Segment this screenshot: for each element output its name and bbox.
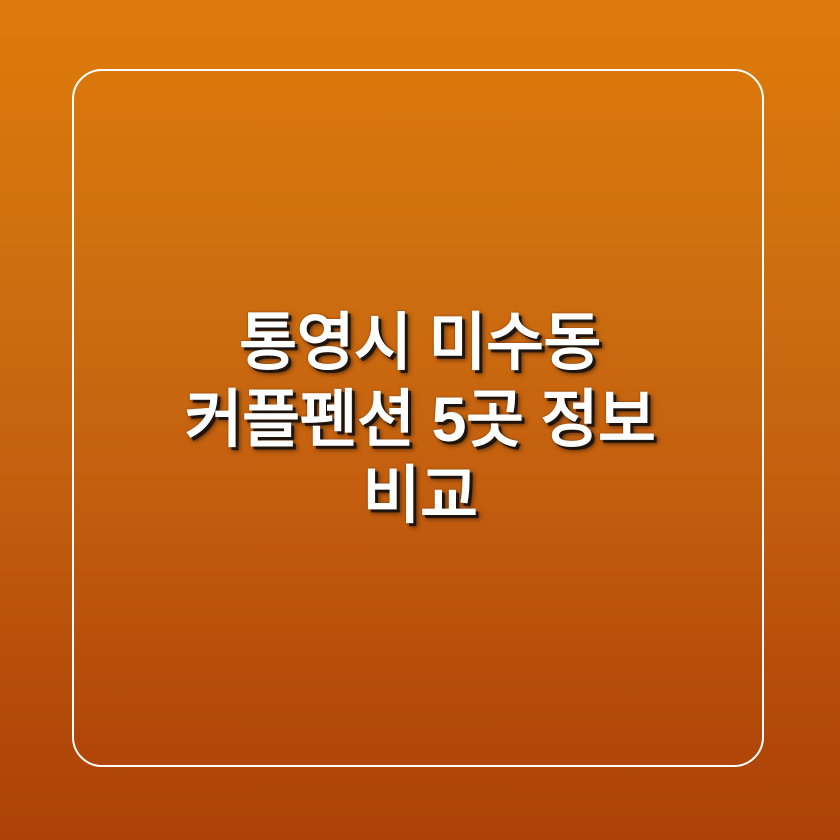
title-line-3: 비교 <box>185 458 656 535</box>
title-line-1: 통영시 미수동 <box>185 305 656 382</box>
page-title: 통영시 미수동 커플펜션 5곳 정보 비교 <box>125 305 716 536</box>
title-block: 통영시 미수동 커플펜션 5곳 정보 비교 <box>0 0 840 840</box>
thumbnail-canvas: 통영시 미수동 커플펜션 5곳 정보 비교 <box>0 0 840 840</box>
title-line-2: 커플펜션 5곳 정보 <box>185 382 656 459</box>
